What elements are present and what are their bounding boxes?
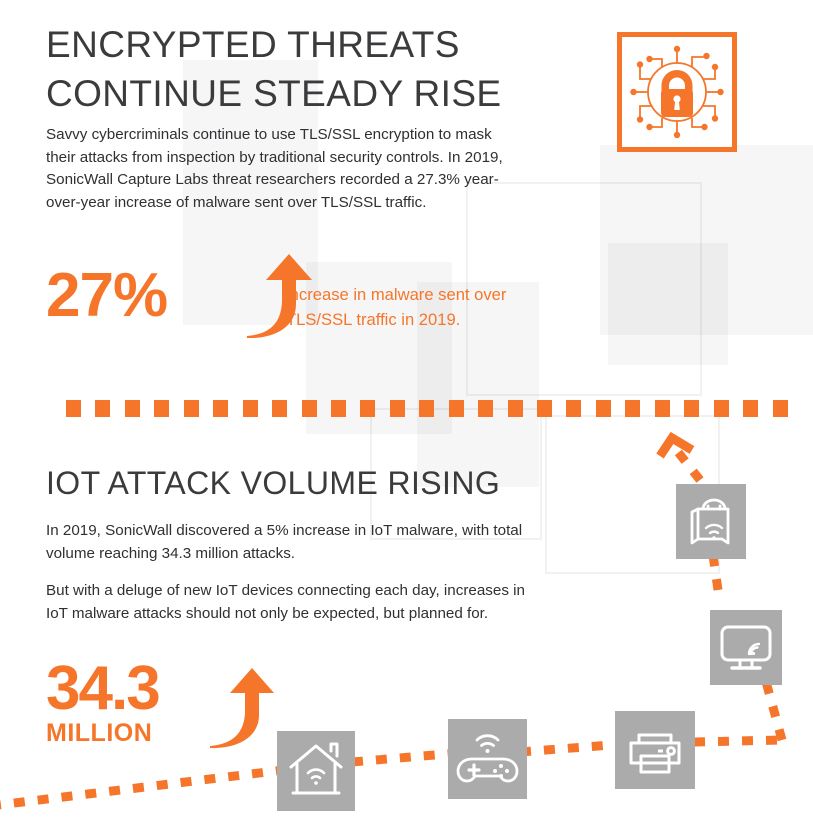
divider-dash [125,400,140,417]
curved-up-arrow-icon [206,668,284,750]
dashed-divider [66,400,802,417]
section2-paragraph: In 2019, SonicWall discovered a 5% incre… [46,520,538,565]
divider-dash [95,400,110,417]
divider-dash [184,400,199,417]
lock-circuit-icon [617,32,737,152]
divider-dash [773,400,788,417]
divider-dash [655,400,670,417]
stat-block-34-3-million: 34.3 MILLION [46,660,159,748]
section2-paragraph: But with a deluge of new IoT devices con… [46,580,538,625]
divider-dash [743,400,758,417]
stat-unit: MILLION [46,718,159,748]
stat-block-27-percent: 27% increase in malware sent over TLS/SS… [46,260,167,340]
divider-dash [684,400,699,417]
divider-dash [302,400,317,417]
divider-dash [449,400,464,417]
divider-dash [419,400,434,417]
page-title: ENCRYPTED THREATS CONTINUE STEADY RISE [46,20,546,118]
divider-dash [213,400,228,417]
stat-caption: increase in malware sent over TLS/SSL tr… [286,282,566,332]
stat-value: 34.3 [46,660,159,718]
divider-dash [154,400,169,417]
smart-tv-icon [710,610,782,685]
divider-dash [390,400,405,417]
smart-home-icon [277,731,355,811]
divider-dash [625,400,640,417]
section-encrypted-threats: ENCRYPTED THREATS CONTINUE STEADY RISE S… [0,0,813,395]
divider-dash [360,400,375,417]
divider-dash [508,400,523,417]
divider-dash [537,400,552,417]
infographic-page: ENCRYPTED THREATS CONTINUE STEADY RISE S… [0,0,813,823]
stat-value: 27% [46,261,167,330]
divider-dash [331,400,346,417]
shopping-bag-icon [676,484,746,559]
section2-title: IOT ATTACK VOLUME RISING [46,462,586,504]
section2-body-text: In 2019, SonicWall discovered a 5% incre… [46,520,538,640]
section1-body-text: Savvy cybercriminals continue to use TLS… [46,124,516,214]
game-controller-icon [448,719,527,799]
divider-dash [66,400,81,417]
divider-dash [272,400,287,417]
divider-dash [596,400,611,417]
divider-dash [478,400,493,417]
printer-icon [615,711,695,789]
divider-dash [243,400,258,417]
divider-dash [566,400,581,417]
divider-dash [714,400,729,417]
